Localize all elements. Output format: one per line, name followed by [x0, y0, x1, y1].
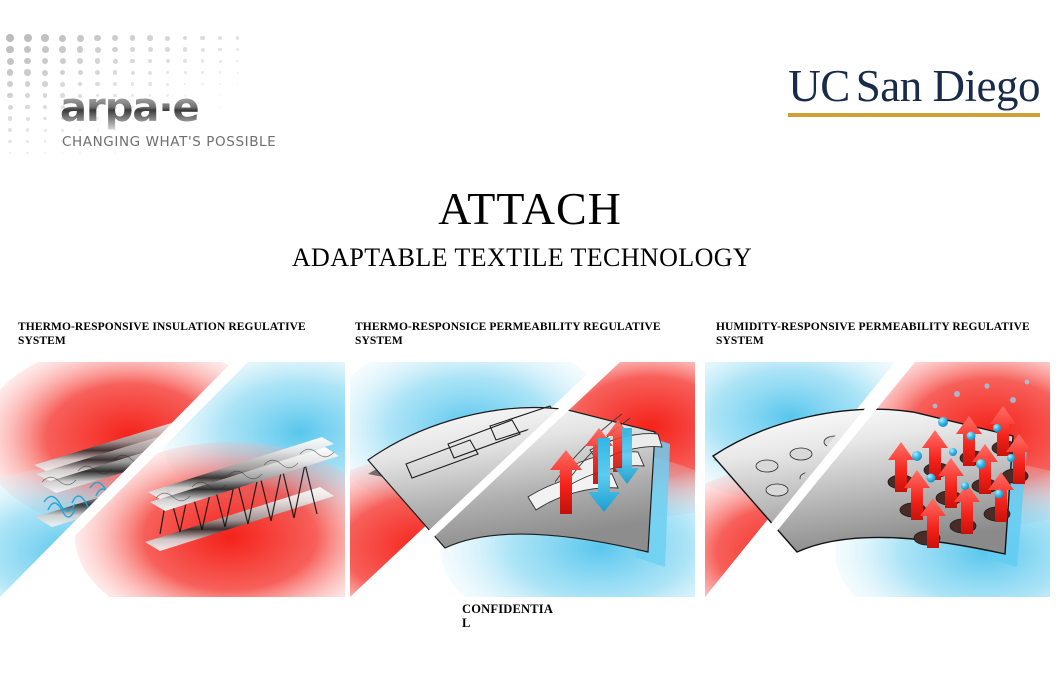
- matrix-dot: [44, 129, 47, 132]
- matrix-dot: [6, 34, 14, 42]
- matrix-dot: [8, 140, 11, 143]
- matrix-dot: [26, 117, 30, 121]
- matrix-dot: [9, 152, 12, 155]
- matrix-dot: [25, 105, 30, 110]
- matrix-dot: [219, 83, 221, 85]
- matrix-dot: [6, 46, 14, 54]
- matrix-dot: [113, 70, 118, 75]
- matrix-dot: [148, 47, 153, 52]
- matrix-dot: [77, 35, 84, 42]
- matrix-dot: [7, 81, 13, 87]
- matrix-dot: [94, 35, 100, 41]
- matrix-dot: [200, 36, 204, 40]
- matrix-dot: [166, 59, 170, 63]
- matrix-dot: [237, 72, 239, 74]
- matrix-dot: [24, 46, 31, 53]
- panel-caption: THERMO-RESPONSIVE INSULATION REGULATIVE …: [18, 320, 338, 348]
- matrix-dot: [130, 35, 136, 41]
- thermo-responsive-insulation-figure: [0, 362, 345, 597]
- matrix-dot: [24, 69, 30, 75]
- matrix-dot: [25, 81, 31, 87]
- panel-thermo-permeability: THERMO-RESPONSICE PERMEABILITY REGULATIV…: [355, 320, 675, 348]
- matrix-dot: [59, 35, 66, 42]
- panel-thermo-insulation: THERMO-RESPONSIVE INSULATION REGULATIVE …: [18, 320, 338, 348]
- matrix-dot: [42, 81, 47, 86]
- matrix-dot: [165, 36, 170, 41]
- title-block: ATTACH ADAPTABLE TEXTILE TECHNOLOGY: [0, 182, 1060, 274]
- matrix-dot: [43, 105, 47, 109]
- matrix-dot: [7, 69, 14, 76]
- matrix-dot: [236, 60, 239, 63]
- uc-san-diego-logo: UCSan Diego: [788, 60, 1040, 117]
- matrix-dot: [201, 71, 204, 74]
- matrix-dot: [201, 83, 203, 85]
- matrix-dot: [24, 34, 32, 42]
- matrix-dot: [236, 48, 239, 51]
- matrix-dot: [236, 36, 240, 40]
- insulation-illustration: [0, 362, 345, 597]
- matrix-dot: [26, 152, 28, 154]
- matrix-dot: [26, 140, 29, 143]
- ucsd-gold-rule: [788, 113, 1040, 117]
- arpae-wordmark: arpa·e: [60, 86, 265, 130]
- matrix-dot: [43, 117, 47, 121]
- matrix-dot: [77, 58, 83, 64]
- matrix-dot: [165, 47, 170, 52]
- matrix-dot: [8, 128, 12, 132]
- matrix-dot: [41, 34, 49, 42]
- ucsd-sandiego-text: San Diego: [856, 61, 1040, 111]
- matrix-dot: [219, 71, 221, 73]
- matrix-dot: [8, 116, 12, 120]
- matrix-dot: [95, 58, 100, 63]
- matrix-dot: [60, 58, 66, 64]
- matrix-dot: [44, 140, 47, 143]
- matrix-dot: [78, 70, 83, 75]
- confidential-line-2: L: [462, 616, 554, 630]
- confidential-label: CONFIDENTIA L: [462, 602, 554, 630]
- humidity-illustration: [705, 362, 1050, 597]
- matrix-dot: [183, 36, 188, 41]
- thermo-responsive-permeability-figure: [350, 362, 695, 597]
- matrix-dot: [218, 36, 222, 40]
- panel-caption: THERMO-RESPONSICE PERMEABILITY REGULATIV…: [355, 320, 675, 348]
- matrix-dot: [42, 70, 48, 76]
- matrix-dot: [201, 48, 205, 52]
- matrix-dot: [7, 58, 14, 65]
- matrix-dot: [112, 35, 118, 41]
- page-title: ATTACH: [0, 182, 1060, 236]
- page-subtitle: ADAPTABLE TEXTILE TECHNOLOGY: [0, 242, 1060, 274]
- arpae-logo: arpa·e CHANGING WHAT'S POSSIBLE: [60, 86, 265, 154]
- page-header: arpa·e CHANGING WHAT'S POSSIBLE UCSan Di…: [0, 0, 1060, 170]
- matrix-dot: [95, 47, 101, 53]
- arpae-tagline: CHANGING WHAT'S POSSIBLE: [62, 134, 276, 150]
- ucsd-uc-text: UC: [788, 61, 850, 111]
- matrix-dot: [130, 47, 135, 52]
- matrix-dot: [131, 71, 135, 75]
- confidential-line-1: CONFIDENTIA: [462, 602, 554, 616]
- matrix-dot: [26, 128, 30, 132]
- matrix-dot: [201, 59, 204, 62]
- matrix-dot: [25, 93, 30, 98]
- matrix-dot: [60, 70, 66, 76]
- uc-san-diego-wordmark: UCSan Diego: [788, 60, 1040, 112]
- matrix-dot: [183, 59, 187, 63]
- matrix-dot: [166, 71, 169, 74]
- matrix-dot: [237, 83, 239, 85]
- matrix-dot: [113, 59, 118, 64]
- matrix-dot: [8, 105, 13, 110]
- matrix-dot: [42, 58, 48, 64]
- matrix-dot: [24, 58, 31, 65]
- panel-caption: HUMIDITY-RESPONSIVE PERMEABILITY REGULAT…: [716, 320, 1036, 348]
- matrix-dot: [148, 71, 152, 75]
- matrix-dot: [42, 46, 49, 53]
- matrix-dot: [147, 35, 152, 40]
- matrix-dot: [218, 48, 222, 52]
- matrix-dot: [44, 152, 46, 154]
- matrix-dot: [7, 93, 12, 98]
- matrix-dot: [77, 46, 83, 52]
- matrix-dot: [59, 46, 66, 53]
- panel-humidity-permeability: HUMIDITY-RESPONSIVE PERMEABILITY REGULAT…: [716, 320, 1036, 348]
- permeability-illustration: [350, 362, 695, 597]
- matrix-dot: [183, 47, 187, 51]
- matrix-dot: [219, 60, 222, 63]
- matrix-dot: [95, 70, 100, 75]
- matrix-dot: [112, 47, 118, 53]
- matrix-dot: [148, 59, 152, 63]
- matrix-dot: [130, 59, 135, 64]
- matrix-dot: [43, 93, 48, 98]
- humidity-responsive-permeability-figure: [705, 362, 1050, 597]
- matrix-dot: [184, 71, 187, 74]
